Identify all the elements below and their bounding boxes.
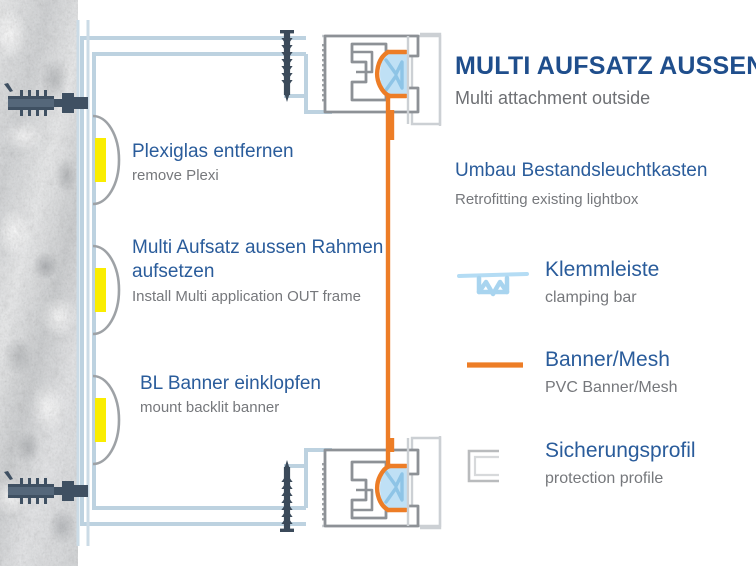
multi-frame-profile-top [325,36,418,112]
screw-top [280,30,294,102]
banner-mesh-line-icon [455,352,531,396]
wall-grain-overlay [0,0,78,566]
step-2-title-de-line2: aufsetzen [132,260,383,284]
page-subtitle: Multi attachment outside [455,88,650,109]
section-heading-en: Retrofitting existing lightbox [455,191,638,208]
legend-label-en-clamping-bar: clamping bar [545,289,637,307]
wall-texture [0,0,78,566]
lightbox-top-channel [286,54,330,112]
frame-serration-bottom [322,463,325,520]
multi-frame-outline-bottom [322,438,440,526]
protection-profile-icon [455,443,531,487]
clamping-bar-icon [455,262,531,306]
step-3-title-de: BL Banner einklopfen [140,372,321,396]
multi-frame-hook-bottom [352,490,372,510]
banner-mesh [388,96,392,466]
multi-frame-outline-top [322,36,440,124]
step-callout-1: Plexiglas entfernen remove Plexi [132,140,294,186]
step-1-title-de: Plexiglas entfernen [132,140,294,164]
step-1-title-en: remove Plexi [132,166,294,186]
legend-label-de-banner-mesh: Banner/Mesh [545,348,670,372]
banner-wrap-bottom [377,466,406,510]
step-3-title-en: mount backlit banner [140,398,321,418]
clamping-bar-bottom [386,472,402,502]
lightbox-bottom-channel [286,450,330,508]
multi-frame-profile-bottom [325,450,418,526]
lightbox-backplate [78,20,88,546]
step-callout-3: BL Banner einklopfen mount backlit banne… [140,372,321,418]
diagram-canvas: Plexiglas entfernen remove Plexi Multi A… [0,0,756,566]
legend-label-de-protection-profile: Sicherungsprofil [545,439,696,463]
clamp-pocket-bottom [380,468,408,508]
legend-label-de-clamping-bar: Klemmleiste [545,258,659,282]
frame-serration-top [322,44,325,101]
step-2-title-de: Multi Aufsatz aussen Rahmen [132,236,383,260]
step-2-title-en: Install Multi application OUT frame [132,287,383,307]
multi-frame-hook-top [352,52,372,72]
clamping-bar-top [386,60,402,90]
legend-label-en-banner-mesh: PVC Banner/Mesh [545,379,678,397]
led-module-3 [93,376,119,464]
led-module-1 [93,116,119,204]
multi-frame-outer-wall-top [408,34,440,126]
section-heading-de: Umbau Bestandsleuchtkasten [455,160,707,182]
screw-bottom [280,460,294,532]
legend-label-en-protection-profile: protection profile [545,470,663,488]
clamp-pocket-top [380,54,408,94]
step-callout-2: Multi Aufsatz aussen Rahmen aufsetzen In… [132,236,383,306]
multi-frame-outer-wall-bottom [408,436,440,528]
page-title: MULTI AUFSATZ AUSSEN [455,52,756,81]
banner-wrap-top [377,52,406,96]
led-module-2 [93,246,119,334]
